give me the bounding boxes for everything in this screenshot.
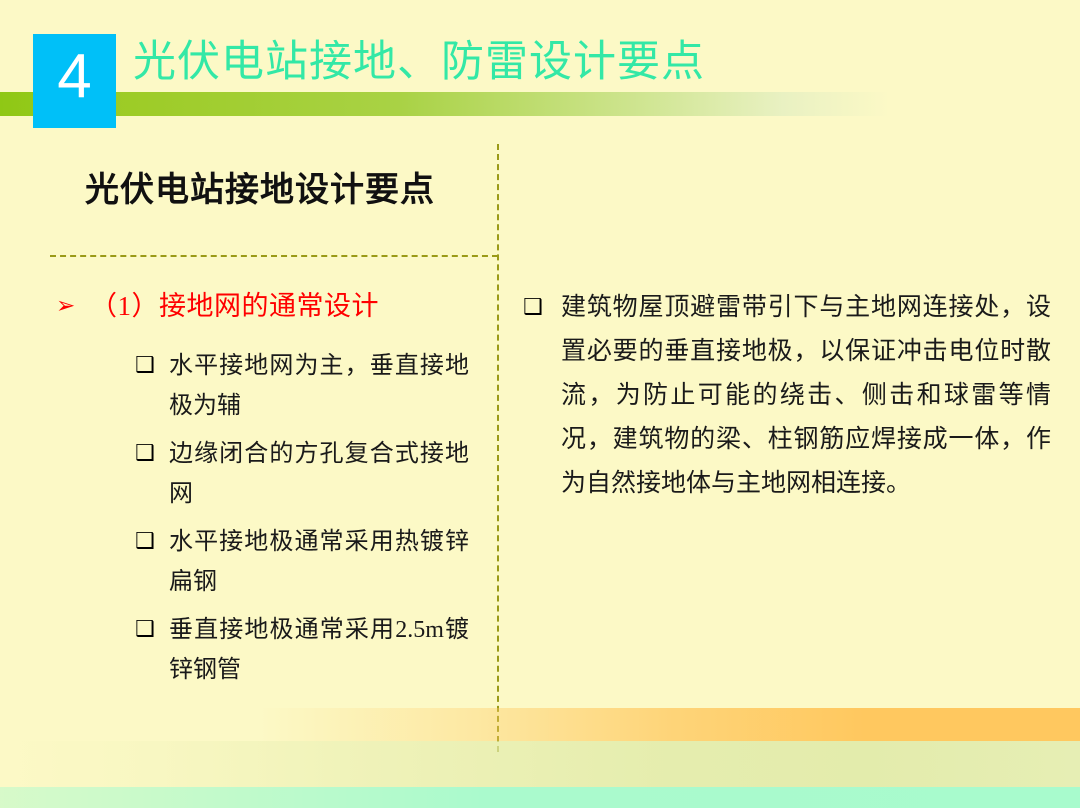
header-accent-bar (0, 92, 890, 116)
left-primary-point: ➢ （1）接地网的通常设计 (56, 288, 486, 324)
chapter-number-label: 4 (57, 46, 91, 116)
square-bullet-icon: ❑ (135, 434, 169, 474)
left-column: 光伏电站接地设计要点 ➢ （1）接地网的通常设计 ❑ 水平接地网为主，垂直接地极… (40, 168, 490, 214)
left-column-heading: 光伏电站接地设计要点 (40, 168, 490, 214)
square-bullet-icon: ❑ (135, 522, 169, 562)
list-item-label: 边缘闭合的方孔复合式接地网 (169, 434, 469, 514)
list-item-label: 水平接地网为主，垂直接地极为辅 (169, 346, 469, 426)
vertical-dashed-divider (497, 144, 499, 752)
square-bullet-icon: ❑ (135, 610, 169, 650)
slide-canvas: 4 光伏电站接地、防雷设计要点 光伏电站接地设计要点 ➢ （1）接地网的通常设计… (0, 0, 1080, 808)
left-sub-list: ❑ 水平接地网为主，垂直接地极为辅 ❑ 边缘闭合的方孔复合式接地网 ❑ 水平接地… (135, 346, 495, 698)
right-column: ❑ 建筑物屋顶避雷带引下与主地网连接处，设置必要的垂直接地极，以保证冲击电位时散… (523, 286, 1051, 506)
list-item-label: 水平接地极通常采用热镀锌扁钢 (169, 522, 469, 602)
right-column-paragraph: 建筑物屋顶避雷带引下与主地网连接处，设置必要的垂直接地极，以保证冲击电位时散流，… (561, 286, 1051, 506)
chapter-number-badge: 4 (33, 34, 116, 128)
left-primary-point-label: （1）接地网的通常设计 (90, 288, 379, 324)
footer-band-mint (0, 787, 1080, 808)
list-item: ❑ 水平接地网为主，垂直接地极为辅 (135, 346, 495, 426)
square-bullet-icon: ❑ (135, 346, 169, 386)
list-item-label: 垂直接地极通常采用2.5m镀锌钢管 (169, 610, 469, 690)
list-item: ❑ 垂直接地极通常采用2.5m镀锌钢管 (135, 610, 495, 690)
list-item: ❑ 边缘闭合的方孔复合式接地网 (135, 434, 495, 514)
page-title: 光伏电站接地、防雷设计要点 (133, 36, 705, 90)
footer-band-lime (0, 741, 1080, 787)
footer-band-orange (0, 708, 1080, 741)
horizontal-dashed-divider (50, 255, 498, 257)
list-item: ❑ 水平接地极通常采用热镀锌扁钢 (135, 522, 495, 602)
square-bullet-icon: ❑ (523, 286, 561, 330)
arrow-bullet-icon: ➢ (56, 288, 90, 324)
